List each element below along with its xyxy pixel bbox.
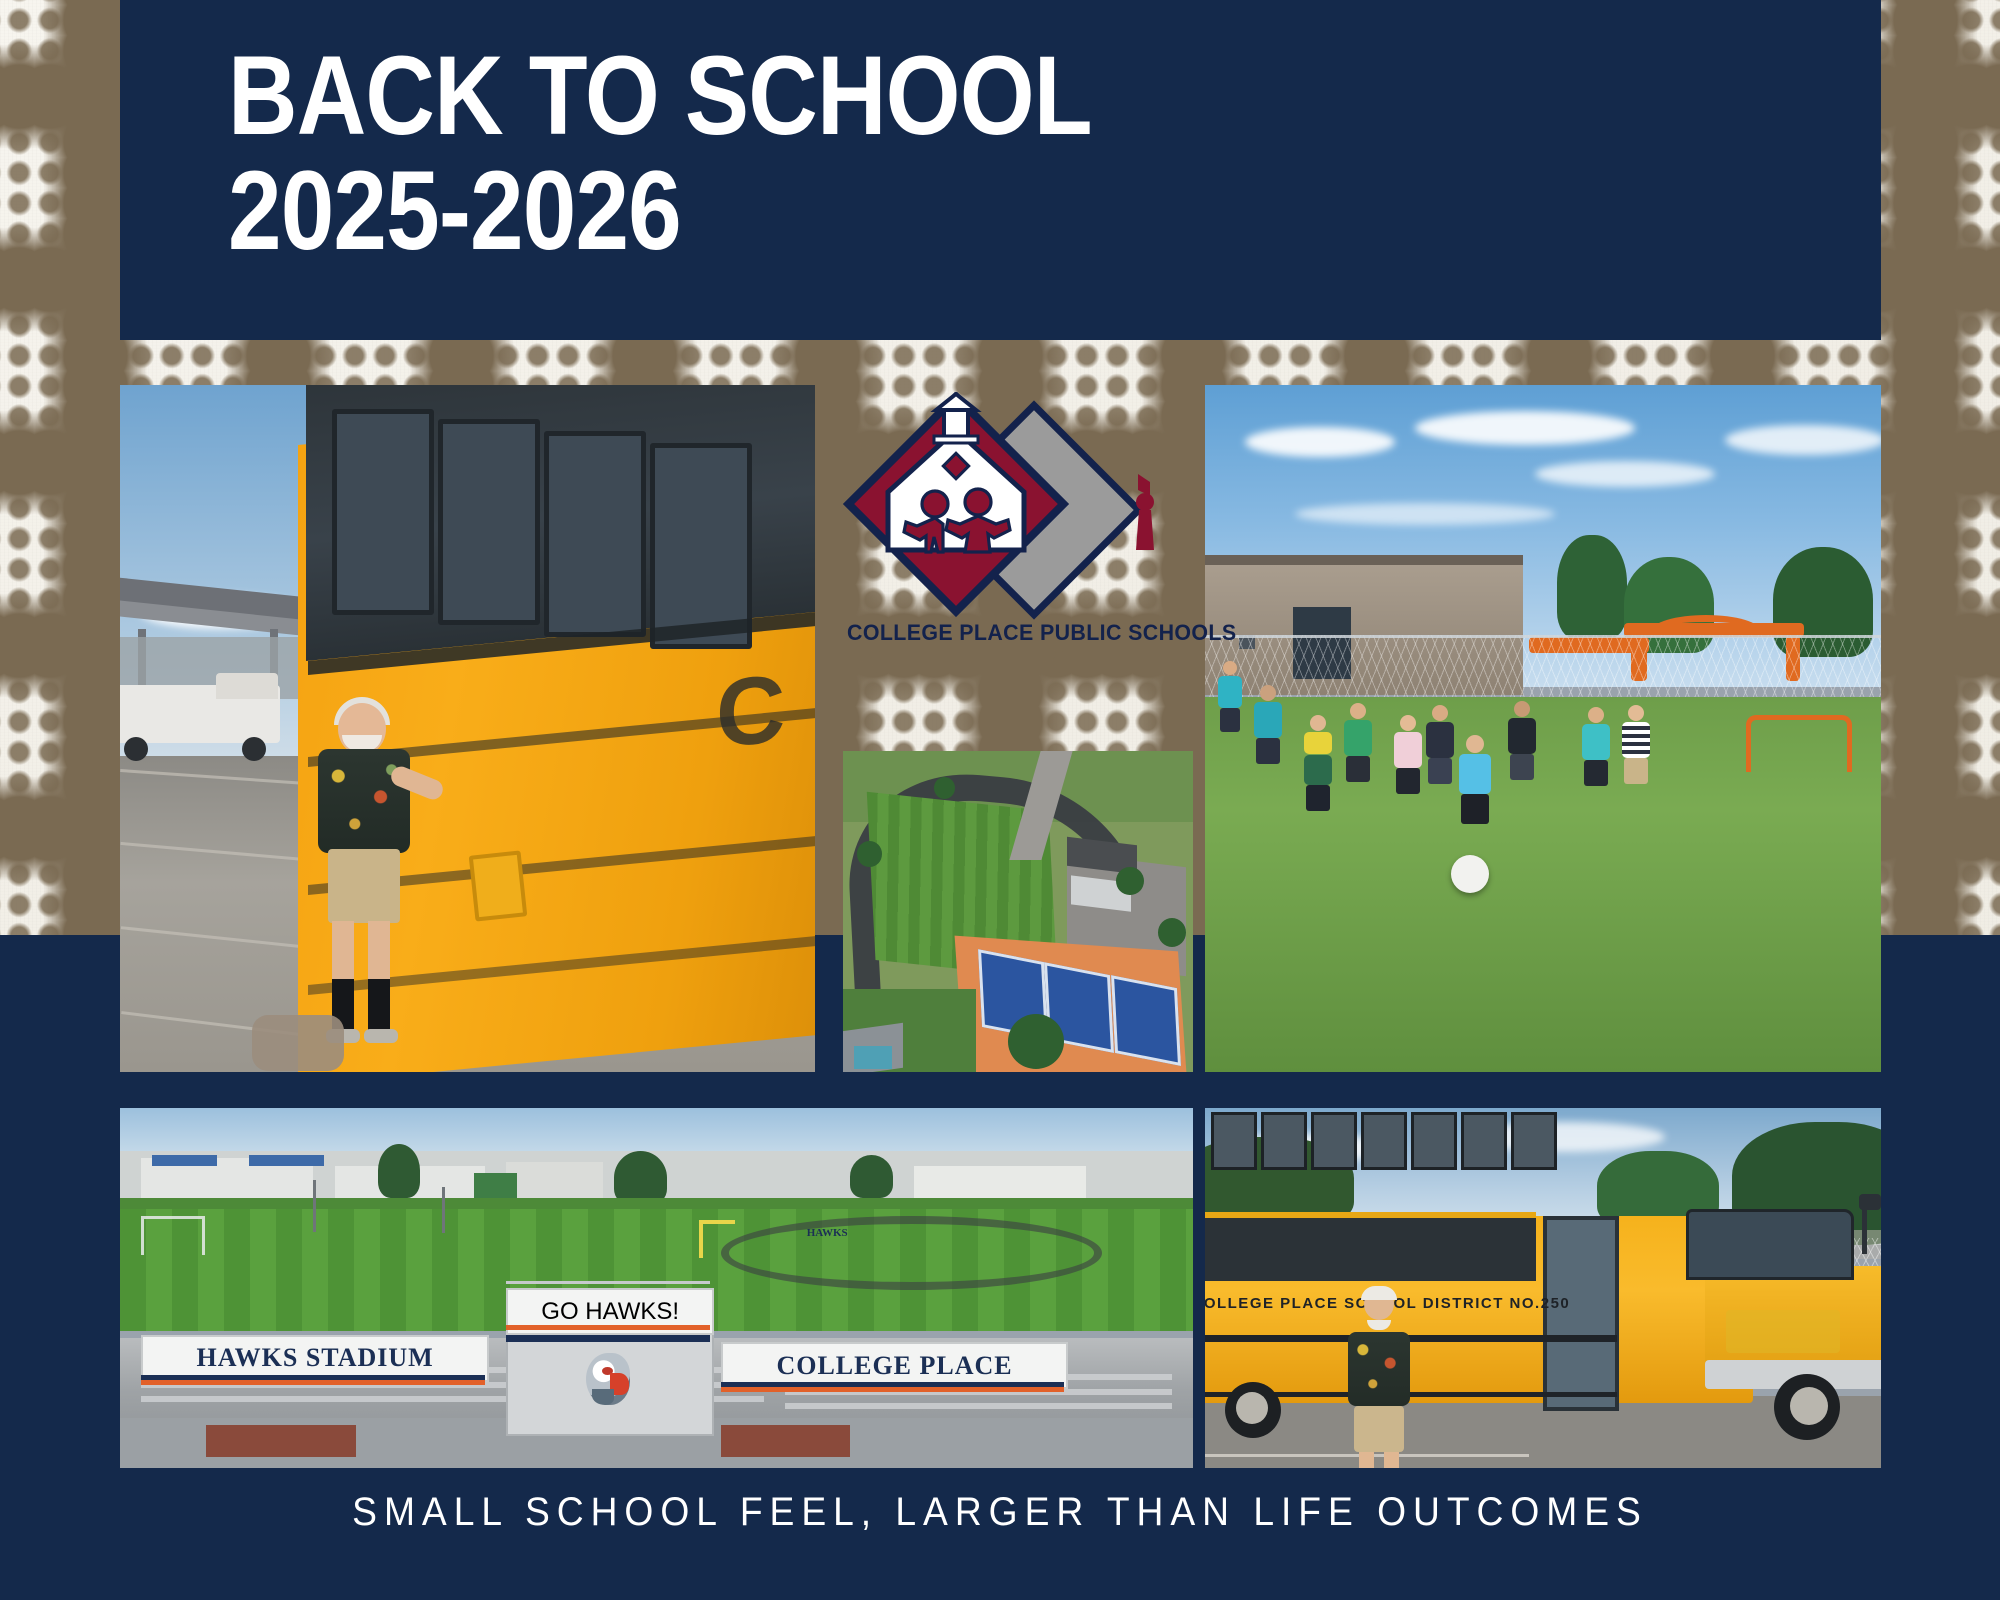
bus-stop-sign bbox=[469, 850, 528, 921]
logo-caption: COLLEGE PLACE PUBLIC SCHOOLS bbox=[847, 620, 1189, 646]
school-bus-front-with-driver-photo: COLLEGE PLACE SCHOOL DISTRICT NO.250 bbox=[1205, 1108, 1881, 1468]
back-to-school-poster: BACK TO SCHOOL 2025-2026 bbox=[0, 0, 2000, 1600]
hawk-head-logo bbox=[586, 1353, 632, 1407]
title-line-2: 2025-2026 bbox=[228, 157, 1518, 266]
students-playing-soccer-photo bbox=[1205, 385, 1881, 1072]
aerial-campus-photo bbox=[843, 751, 1193, 1072]
bus-driver-figure bbox=[1340, 1288, 1418, 1468]
hawks-stadium-photo: HAWKS HAWKS STADIUM COLLEGE PLACE GO bbox=[120, 1108, 1193, 1468]
soccer-ball bbox=[1451, 855, 1489, 893]
district-logo: COLLEGE PLACE PUBLIC SCHOOLS bbox=[838, 392, 1198, 682]
title-line-1: BACK TO SCHOOL bbox=[228, 42, 1518, 151]
poster-tagline: SMALL SCHOOL FEEL, LARGER THAN LIFE OUTC… bbox=[70, 1490, 1930, 1535]
stadium-banner-right-text: COLLEGE PLACE bbox=[776, 1351, 1012, 1381]
stadium-banner-left-text: HAWKS STADIUM bbox=[197, 1343, 434, 1373]
page-title: BACK TO SCHOOL 2025-2026 bbox=[228, 42, 1728, 265]
bus-letter: C bbox=[716, 654, 785, 770]
bus-driver-opening-door-photo: C bbox=[120, 385, 815, 1072]
stadium-banner-top-text: GO HAWKS! bbox=[541, 1298, 679, 1326]
schoolhouse-diamond-graduation-cap-logo bbox=[838, 392, 1198, 622]
